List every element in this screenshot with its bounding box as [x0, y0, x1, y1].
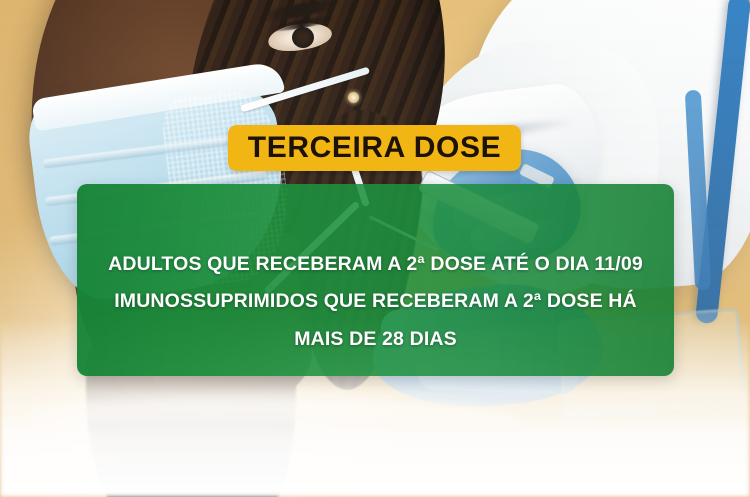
eligibility-line-3: MAIS DE 28 DIAS [87, 330, 664, 350]
earring-icon [348, 92, 359, 103]
terceira-dose-badge: TERCEIRA DOSE [228, 125, 521, 171]
eligibility-banner-text: ADULTOS QUE RECEBERAM A 2ª DOSE ATÉ O DI… [77, 255, 674, 350]
vaccination-poster: TERCEIRA DOSE ADULTOS QUE RECEBERAM A 2ª… [0, 0, 750, 497]
badge-label: TERCEIRA DOSE [248, 133, 501, 163]
patient-iris [292, 27, 314, 48]
eligibility-line-1: ADULTOS QUE RECEBERAM A 2ª DOSE ATÉ O DI… [87, 255, 664, 275]
eligibility-banner: ADULTOS QUE RECEBERAM A 2ª DOSE ATÉ O DI… [77, 184, 674, 376]
eligibility-line-2: IMUNOSSUPRIMIDOS QUE RECEBERAM A 2ª DOSE… [87, 292, 664, 312]
